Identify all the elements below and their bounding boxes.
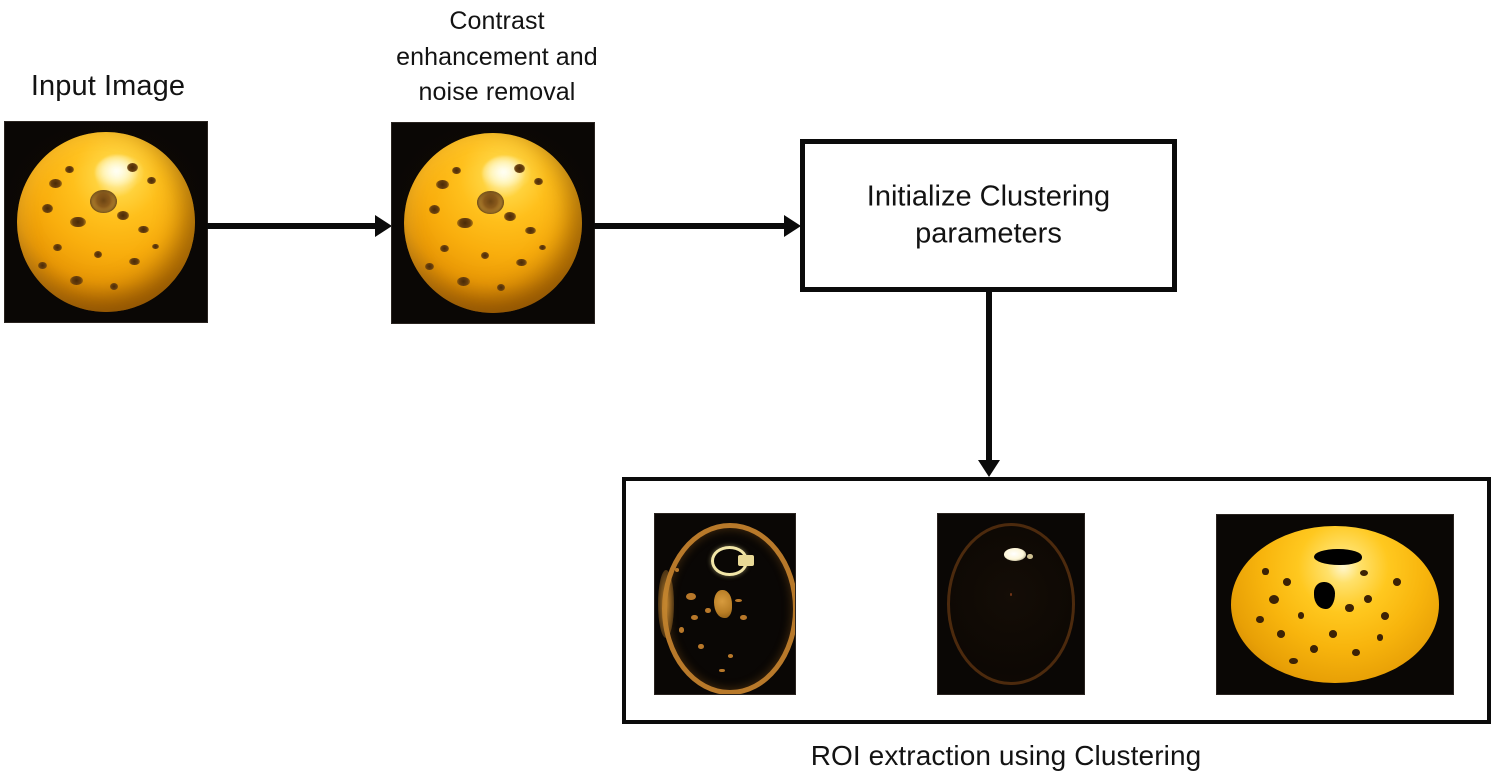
blemish-spot	[1345, 604, 1353, 612]
cluster-speck	[735, 599, 742, 603]
input-image-label: Input Image	[0, 68, 216, 106]
blemish-spot	[110, 283, 119, 290]
blemish-spot	[457, 218, 473, 229]
orange-fruit-shape	[17, 132, 195, 312]
blemish-spot	[94, 251, 103, 258]
blemish-spot	[42, 204, 53, 213]
blemish-spot	[1360, 570, 1368, 576]
blemish-spot	[1377, 634, 1383, 640]
blemish-spot	[1364, 595, 1372, 603]
blemish-spot	[1256, 616, 1264, 624]
fruit-navel	[477, 191, 504, 214]
enhanced-image-photo	[392, 123, 594, 323]
roi-results-container	[622, 477, 1491, 724]
blemish-spot	[65, 166, 74, 173]
blemish-spot	[514, 164, 525, 173]
blemish-spot	[70, 217, 86, 228]
blemish-spot	[1352, 649, 1360, 657]
input-image-photo	[5, 122, 207, 322]
cluster-result-2-image	[938, 514, 1084, 694]
contrast-enhancement-label: Contrast enhancement and noise removal	[378, 4, 616, 111]
blemish-spot	[1262, 568, 1268, 574]
blemish-spot	[70, 276, 82, 285]
cluster-speck	[698, 644, 704, 649]
specular-highlight	[95, 155, 143, 189]
specular-highlight-cluster	[1004, 548, 1026, 561]
blemish-spot	[147, 177, 156, 184]
orange-fruit-shape	[404, 133, 582, 313]
blemish-spot	[452, 167, 461, 174]
blemish-spot	[1269, 595, 1279, 604]
center-blemish-region	[714, 590, 732, 619]
blemish-spot	[117, 211, 129, 220]
blemish-spot	[138, 226, 149, 233]
blemish-spot	[440, 245, 449, 252]
stem-region-highlight	[711, 546, 748, 575]
fruit-body-cluster	[1231, 526, 1439, 684]
cluster-speck	[705, 608, 711, 613]
initialize-clustering-parameters-text: Initialize Clustering parameters	[805, 178, 1172, 253]
blemish-spot	[429, 205, 440, 214]
removed-region-hole	[1314, 582, 1335, 609]
blemish-spot	[525, 227, 536, 234]
arrow-contrast-to-initialize	[594, 223, 786, 229]
blemish-spot	[534, 178, 543, 185]
blemish-spot	[1289, 658, 1297, 664]
arrow-initialize-to-roi	[986, 292, 992, 462]
specular-highlight	[482, 156, 530, 190]
removed-region-hole	[1314, 549, 1362, 565]
specular-highlight-fragment	[1027, 554, 1033, 559]
blemish-spot	[152, 244, 159, 249]
blemish-spot	[129, 258, 140, 265]
blemish-spot	[53, 244, 62, 251]
blemish-spot	[49, 179, 61, 188]
blemish-spot	[1310, 645, 1318, 653]
blemish-spot	[497, 284, 506, 291]
blemish-spot	[1298, 612, 1304, 618]
cluster-result-1-image	[655, 514, 795, 694]
blemish-spot	[1283, 578, 1291, 586]
arrow-input-to-contrast	[207, 223, 377, 229]
blemish-spot	[1393, 578, 1401, 586]
blemish-spot	[481, 252, 490, 259]
cluster-speck	[675, 568, 679, 572]
flow-diagram-canvas: Input Image Contrast enhancement and noi…	[0, 0, 1500, 781]
blemish-spot	[1381, 612, 1389, 620]
blemish-spot	[127, 163, 138, 172]
blemish-spot	[425, 263, 434, 270]
roi-extraction-caption: ROI extraction using Clustering	[706, 738, 1306, 774]
cluster-speck	[679, 627, 685, 632]
blemish-spot	[436, 180, 448, 189]
blemish-spot	[504, 212, 516, 221]
blemish-spot	[1329, 630, 1337, 638]
blemish-spot	[1277, 630, 1285, 638]
blemish-spot	[516, 259, 527, 266]
blemish-spot	[457, 277, 469, 286]
blemish-spot	[38, 262, 47, 269]
fruit-navel	[90, 190, 117, 213]
blemish-spot	[539, 245, 546, 250]
initialize-clustering-parameters-box: Initialize Clustering parameters	[800, 139, 1177, 292]
cluster-result-3-image	[1217, 515, 1453, 694]
